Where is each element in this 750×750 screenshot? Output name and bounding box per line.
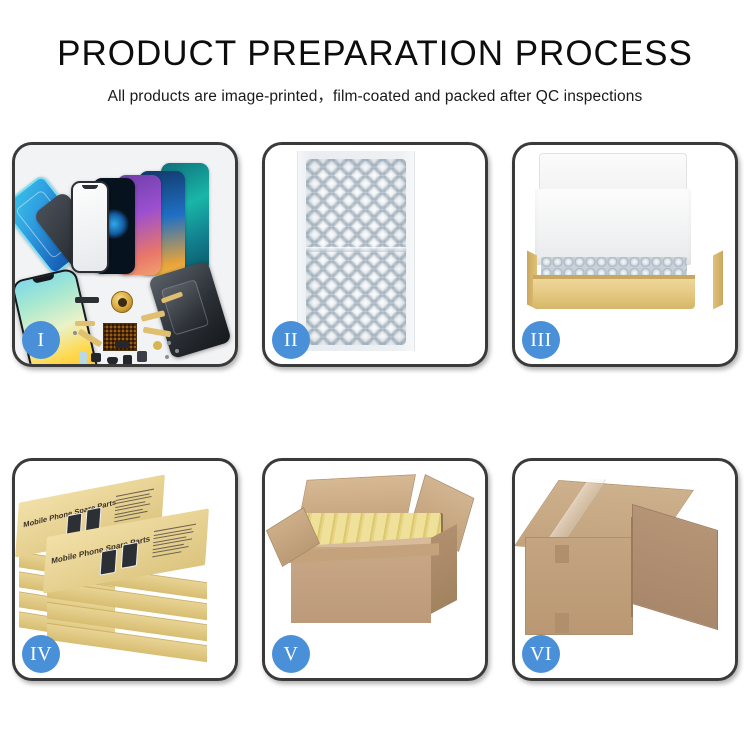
white-foam-padding: [535, 189, 691, 265]
box-right-panel: [713, 251, 723, 310]
small-component-part: [123, 355, 132, 364]
flex-cable-part: [75, 297, 99, 303]
box-phone-graphic: [121, 542, 139, 569]
carton-seam-lower: [555, 613, 569, 633]
screw-part: [175, 349, 179, 353]
process-step-panel-6: VI: [512, 458, 738, 681]
carton-front-face: [525, 537, 633, 635]
process-step-panel-1: I: [12, 142, 238, 367]
step-badge-3: III: [522, 321, 560, 359]
speaker-coil-part: [111, 291, 133, 313]
small-component-part: [137, 351, 147, 362]
bubble-wrap-texture: [306, 159, 406, 345]
small-component-part: [153, 341, 162, 350]
process-step-panel-4: Mobile Phone Spare Parts Mobile Phone Sp…: [12, 458, 238, 681]
carton-side-face: [431, 524, 457, 614]
step-badge-5: V: [272, 635, 310, 673]
small-component-part: [91, 353, 101, 362]
process-step-panel-2: II: [262, 142, 488, 367]
screw-part: [73, 331, 77, 335]
phone-notch: [82, 185, 98, 189]
bag-seam: [306, 247, 406, 252]
small-component-part: [79, 351, 87, 364]
kraft-box-front: [533, 279, 695, 309]
flex-cable-part: [75, 321, 95, 326]
step-badge-2: II: [272, 321, 310, 359]
carton-vertical-edge: [631, 517, 633, 617]
carton-seam-upper: [555, 545, 569, 563]
small-component-part: [107, 357, 118, 364]
step-badge-1: I: [22, 321, 60, 359]
process-steps-grid: I II III: [0, 0, 750, 750]
screw-part: [167, 341, 171, 345]
bubble-wrap-bag: [297, 151, 415, 351]
screw-part: [165, 355, 169, 359]
phone-white-screen-protector: [71, 181, 109, 273]
small-component-part: [115, 341, 129, 348]
step-badge-6: VI: [522, 635, 560, 673]
step-badge-4: IV: [22, 635, 60, 673]
process-step-panel-5: V: [262, 458, 488, 681]
box-phone-graphic: [100, 549, 118, 576]
process-step-panel-3: III: [512, 142, 738, 367]
